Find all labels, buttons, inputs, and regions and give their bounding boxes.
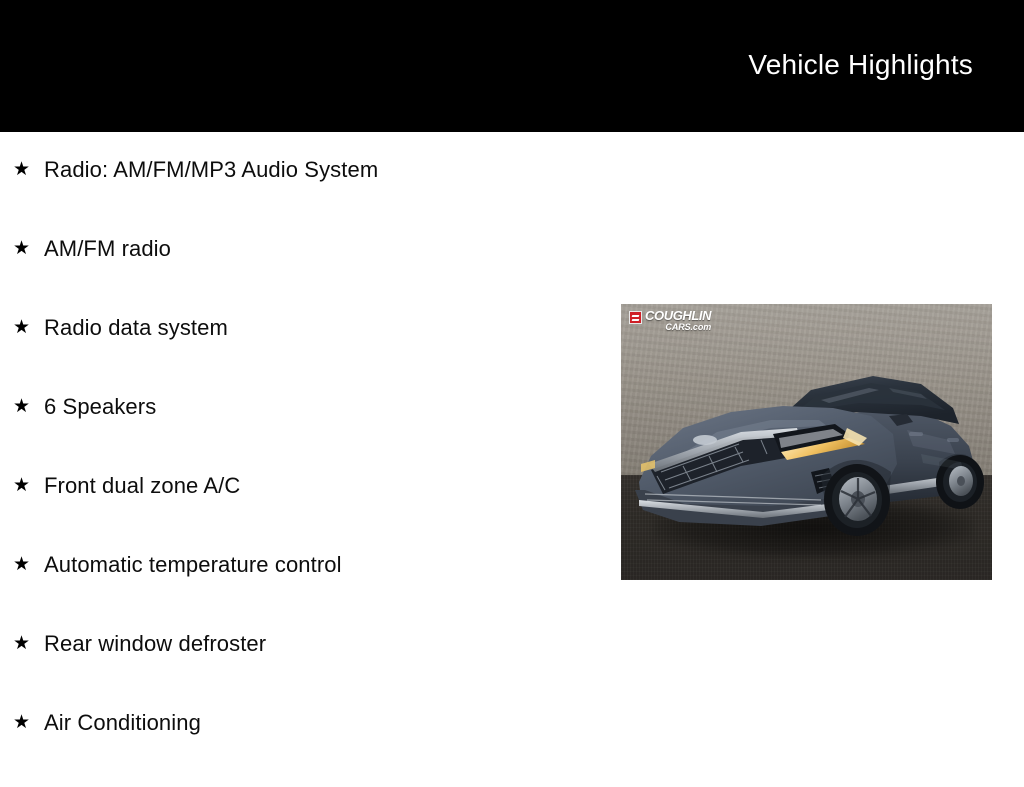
vehicle-photo: COUGHLIN CARS.com (621, 304, 992, 580)
star-bullet-icon: ★ (13, 392, 34, 422)
list-item: ★ Radio data system (0, 313, 600, 392)
highlight-label: 6 Speakers (44, 392, 156, 422)
star-bullet-icon: ★ (13, 629, 34, 659)
list-item: ★ Air Conditioning (0, 708, 600, 787)
watermark-domain: CARS.com (645, 323, 711, 332)
star-bullet-icon: ★ (13, 708, 34, 738)
highlight-label: Radio: AM/FM/MP3 Audio System (44, 155, 378, 185)
page-title: Vehicle Highlights (748, 48, 973, 82)
coughlin-badge-icon (629, 311, 642, 324)
star-bullet-icon: ★ (13, 550, 34, 580)
vehicle-highlights-list: ★ Radio: AM/FM/MP3 Audio System ★ AM/FM … (0, 155, 600, 787)
star-bullet-icon: ★ (13, 234, 34, 264)
dealer-watermark: COUGHLIN CARS.com (629, 309, 711, 332)
list-item: ★ AM/FM radio (0, 234, 600, 313)
list-item: ★ Automatic temperature control (0, 550, 600, 629)
highlight-label: Automatic temperature control (44, 550, 342, 580)
highlight-label: AM/FM radio (44, 234, 171, 264)
list-item: ★ Front dual zone A/C (0, 471, 600, 550)
list-item: ★ Rear window defroster (0, 629, 600, 708)
star-bullet-icon: ★ (13, 155, 34, 185)
header-banner: Vehicle Highlights (0, 0, 1024, 132)
watermark-brand: COUGHLIN (645, 309, 711, 322)
star-bullet-icon: ★ (13, 471, 34, 501)
star-bullet-icon: ★ (13, 313, 34, 343)
list-item: ★ Radio: AM/FM/MP3 Audio System (0, 155, 600, 234)
highlight-label: Rear window defroster (44, 629, 266, 659)
list-item: ★ 6 Speakers (0, 392, 600, 471)
highlight-label: Radio data system (44, 313, 228, 343)
car-illustration (621, 304, 992, 580)
watermark-text: COUGHLIN CARS.com (645, 309, 711, 332)
highlight-label: Air Conditioning (44, 708, 201, 738)
highlight-label: Front dual zone A/C (44, 471, 240, 501)
